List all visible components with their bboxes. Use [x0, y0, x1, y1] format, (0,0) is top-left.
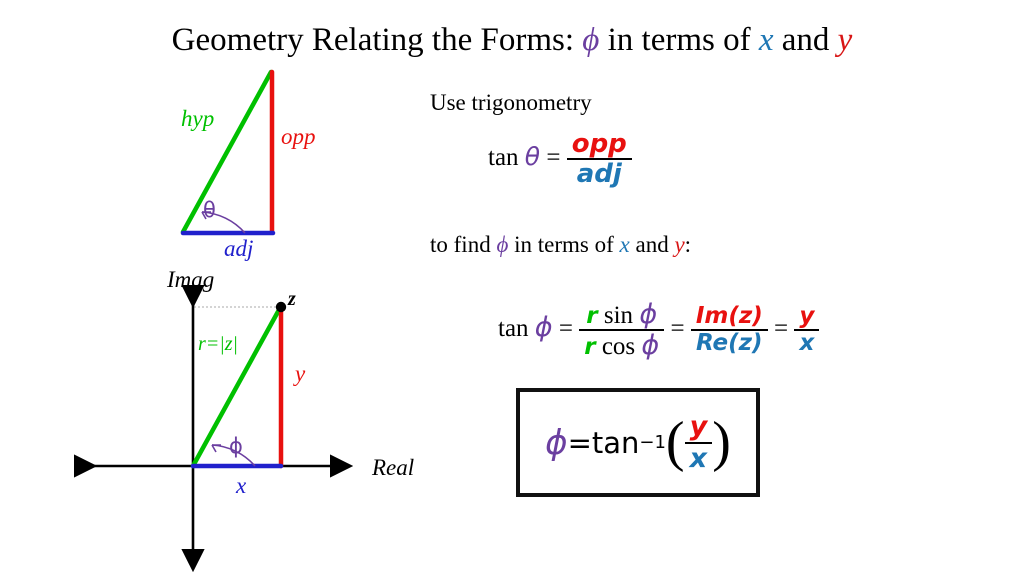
result-numerator-y: y: [685, 412, 713, 441]
denominator-phi-symbol: ϕ: [641, 330, 659, 361]
tan-theta-equals: =: [540, 144, 567, 171]
numerator-r-symbol: r: [586, 303, 597, 329]
fraction-denominator-adj: adj: [567, 158, 632, 188]
theta-angle-label: θ: [203, 198, 216, 222]
to-find-phi-symbol: ϕ: [496, 232, 508, 257]
boxed-result-equation: ϕ = tan−1( y x ): [516, 388, 760, 497]
result-denominator-x: x: [685, 442, 713, 473]
imz-over-rez-fraction: Im(z) Re(z): [691, 304, 768, 356]
tan-phi-equals-2: =: [664, 315, 691, 342]
tan-theta-tan: tan: [488, 144, 525, 171]
fraction-denominator-rcosphi: r cos ϕ: [579, 329, 664, 360]
y-over-x-fraction: y x: [794, 304, 819, 356]
title-text-part3: and: [774, 22, 838, 58]
to-find-colon: :: [685, 232, 691, 257]
fraction-denominator-rez: Re(z): [691, 329, 768, 356]
hypotenuse-line: [183, 72, 271, 232]
right-triangle-diagram: [150, 55, 380, 265]
to-find-phi-text: to find ϕ in terms of x and y:: [430, 232, 691, 258]
complex-plane-diagram: [70, 285, 410, 575]
fraction-numerator-y: y: [794, 304, 819, 329]
phi-angle-label: ϕ: [229, 434, 243, 458]
fraction-numerator-opp: opp: [567, 130, 632, 158]
tan-phi-tan: tan: [498, 315, 535, 342]
equation-tan-theta: tan θ = opp adj: [488, 130, 632, 188]
tan-phi-equals-3: =: [768, 315, 795, 342]
result-exponent: −1: [639, 432, 666, 453]
imag-axis-label: Imag: [167, 267, 214, 293]
denominator-r-symbol: r: [584, 334, 595, 360]
point-z-label: z: [288, 288, 296, 311]
to-find-y-symbol: y: [674, 232, 684, 257]
adj-label: adj: [224, 236, 253, 262]
to-find-part1: to find: [430, 232, 496, 257]
hyp-label: hyp: [181, 106, 214, 132]
rsin-over-rcos-fraction: r sin ϕ r cos ϕ: [579, 300, 664, 360]
result-paren-open: (: [666, 422, 685, 462]
to-find-x-symbol: x: [620, 232, 630, 257]
imag-part-y-label: y: [295, 361, 305, 387]
modulus-r-label: r=|z|: [198, 333, 238, 356]
title-y-symbol: y: [838, 22, 853, 58]
boxed-result-content: ϕ = tan−1( y x ): [520, 392, 756, 493]
result-phi-symbol: ϕ: [545, 423, 567, 463]
tan-phi-equals-1: =: [553, 315, 580, 342]
real-part-x-label: x: [236, 473, 246, 499]
equation-tan-phi: tan ϕ = r sin ϕ r cos ϕ = Im(z) Re(z) = …: [498, 300, 819, 360]
title-text-part2: in terms of: [599, 22, 758, 58]
opp-label: opp: [281, 124, 316, 150]
tan-theta-theta-symbol: θ: [525, 142, 540, 171]
real-axis-label: Real: [372, 455, 414, 481]
title-x-symbol: x: [759, 22, 774, 58]
point-z-dot: [276, 302, 286, 312]
result-paren-close: ): [712, 422, 731, 462]
use-trigonometry-text: Use trigonometry: [430, 90, 592, 116]
denominator-cos-text: cos: [596, 333, 642, 360]
tan-phi-phi-symbol: ϕ: [535, 312, 553, 343]
fraction-numerator-rsinphi: r sin ϕ: [579, 300, 664, 329]
opp-over-adj-fraction: opp adj: [567, 130, 632, 188]
numerator-phi-symbol: ϕ: [639, 299, 657, 330]
title-text-part1: Geometry Relating the Forms:: [172, 22, 583, 58]
to-find-part3: and: [630, 232, 675, 257]
result-y-over-x-fraction: y x: [685, 412, 713, 472]
result-tan-text: tan: [592, 426, 640, 460]
fraction-denominator-x: x: [794, 329, 819, 356]
numerator-sin-text: sin: [598, 302, 640, 329]
to-find-part2: in terms of: [508, 232, 619, 257]
page-title: Geometry Relating the Forms: ϕ in terms …: [0, 22, 1024, 58]
fraction-numerator-imz: Im(z): [691, 304, 768, 329]
result-equals: =: [568, 426, 592, 460]
title-phi-symbol: ϕ: [582, 22, 599, 58]
